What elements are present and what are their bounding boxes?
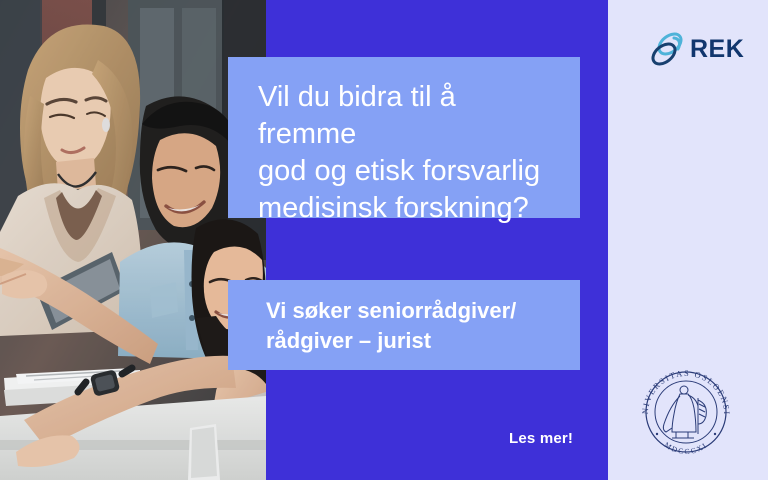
rek-interlocking-rings-icon: [648, 29, 688, 69]
apollo-figure: [663, 386, 706, 438]
uio-seal: UNIVERSITAS OSLOENSIS MDCCCXI: [636, 362, 736, 462]
read-more-link[interactable]: Les mer!: [509, 430, 573, 447]
headline-box: Vil du bidra til å fremme god og etisk f…: [228, 57, 580, 218]
headline-text: Vil du bidra til å fremme god og etisk f…: [258, 79, 552, 227]
rek-recruitment-banner: REK Vil du bidra til å fremme god og eti…: [0, 0, 768, 480]
rek-logo: REK: [648, 26, 740, 72]
team-collaboration-photo: [0, 0, 266, 480]
photo-illustration: [0, 0, 266, 480]
job-title-text: Vi søker seniorrådgiver/ rådgiver – juri…: [266, 296, 556, 356]
uio-seal-icon: UNIVERSITAS OSLOENSIS MDCCCXI: [636, 362, 736, 462]
rek-wordmark: REK: [690, 37, 744, 62]
job-title-box: Vi søker seniorrådgiver/ rådgiver – juri…: [228, 280, 580, 370]
